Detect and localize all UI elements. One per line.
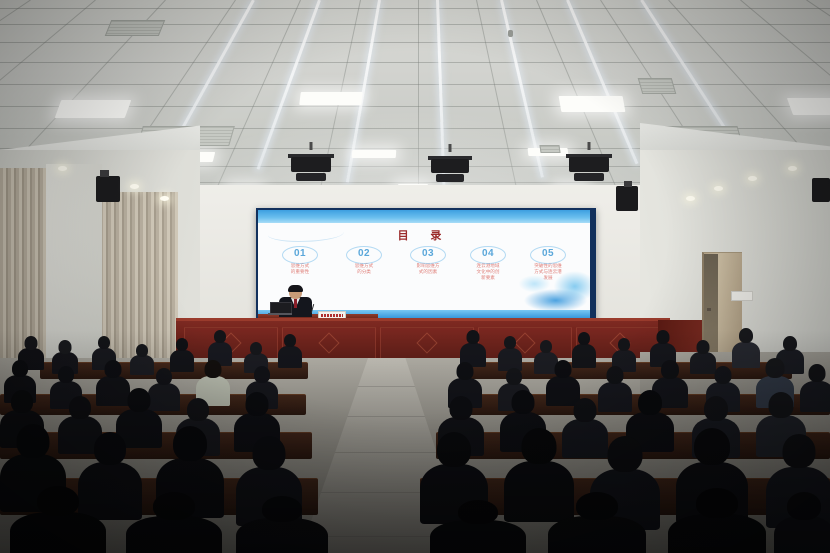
attendee: [278, 334, 302, 364]
wall-speaker: [616, 186, 638, 211]
toc-item: 02 思维方式 的分类: [336, 248, 392, 276]
recessed-downlight: [686, 196, 695, 201]
ceiling-speaker-cluster: [428, 150, 472, 186]
recessed-downlight: [788, 166, 797, 171]
slide-title: 目 录: [258, 227, 590, 243]
toc-number: 04: [460, 248, 516, 259]
door-sign: [731, 291, 753, 301]
ceiling-light-panel: [559, 96, 626, 112]
attendee: [612, 338, 636, 368]
attendee: [208, 330, 232, 362]
rostrum-diamond: [318, 332, 339, 353]
toc-item: 01 思维方式 的重要性: [272, 248, 328, 276]
toc-number: 02: [336, 248, 392, 259]
attendee: [548, 492, 646, 553]
attendee: [774, 492, 830, 553]
hvac-vent: [638, 78, 677, 94]
attendee: [668, 488, 766, 553]
nameplate-text: [321, 314, 343, 317]
toc-item: 03 影响思维方 式的因素: [400, 248, 456, 276]
door-reveal: [704, 254, 718, 354]
laptop-base: [268, 313, 292, 315]
door-handle[interactable]: [707, 308, 711, 311]
attendee: [430, 500, 526, 553]
hvac-vent: [105, 20, 165, 36]
recessed-downlight: [160, 196, 169, 201]
presenter-tie: [294, 299, 297, 308]
recessed-downlight: [748, 176, 757, 181]
toc-number: 01: [272, 248, 328, 259]
ceiling-light-panel: [787, 98, 830, 115]
ceiling-speaker-cluster: [566, 148, 612, 186]
sprinkler-head: [508, 30, 513, 37]
wall-speaker: [812, 178, 830, 202]
attendee: [498, 336, 522, 368]
slide-top-band: [258, 210, 590, 223]
toc-label: 思维方式 的分类: [336, 264, 392, 276]
attendee: [196, 360, 230, 402]
recessed-downlight: [130, 184, 139, 189]
attendee: [10, 486, 106, 553]
ceiling-light-panel: [55, 100, 132, 118]
attendee: [170, 338, 194, 368]
toc-number: 05: [520, 248, 576, 259]
rostrum-diamond: [416, 332, 437, 353]
ceiling-light-panel: [299, 92, 363, 105]
attendee: [236, 496, 328, 553]
wall-speaker: [96, 176, 120, 202]
toc-number: 03: [400, 248, 456, 259]
attendee: [546, 360, 580, 402]
ceiling-light-panel: [352, 150, 397, 158]
hvac-vent: [539, 145, 560, 153]
recessed-downlight: [58, 166, 67, 171]
attendee: [650, 330, 676, 364]
toc-label: 思维方式 的重要性: [272, 264, 328, 276]
recessed-downlight: [714, 186, 723, 191]
attendee: [126, 492, 222, 553]
toc-label: 影响思维方 式的因素: [400, 264, 456, 276]
conference-hall-photo: 目 录 01 思维方式 的重要性 02 思维方式 的分类 03 影响思维方 式的…: [0, 0, 830, 553]
laptop: [268, 302, 292, 315]
attendee: [460, 330, 486, 364]
ceiling-speaker-cluster: [288, 148, 334, 186]
slide-watercolor-graphic: [498, 263, 590, 315]
presenter-hair: [288, 285, 303, 292]
door-sign-label: [732, 292, 752, 293]
